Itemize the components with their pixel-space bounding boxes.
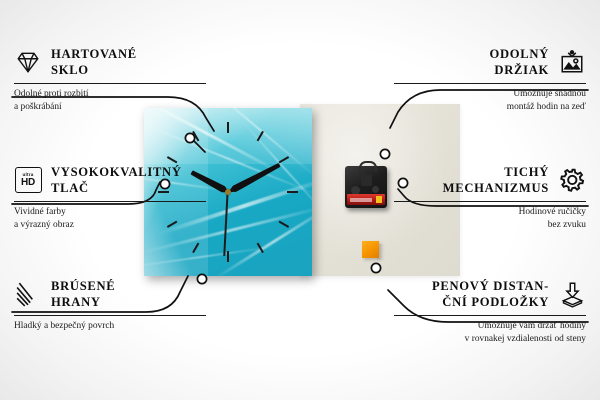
feature-description: Hodinové ručičky bez zvuku	[394, 206, 586, 232]
feature-divider	[14, 201, 206, 202]
polished-edges-icon	[14, 280, 42, 308]
picture-frame-icon	[558, 48, 586, 76]
hd-badge: ultra HD	[15, 167, 42, 193]
feature-divider	[394, 83, 586, 84]
feature-heading: HARTOVANÉ SKLO	[14, 46, 206, 78]
feather-streak	[201, 108, 312, 178]
movement-dial	[372, 186, 379, 193]
hour-tick	[192, 243, 199, 254]
gear-icon	[558, 166, 586, 194]
diamond-icon	[14, 48, 42, 76]
feature-divider	[14, 83, 206, 84]
feather-streak	[144, 246, 275, 269]
feature-silent-mechanism: TICHÝ MECHANIZMUS Hodinové ručičky bez z…	[394, 164, 586, 232]
feature-heading: BRÚSENÉ HRANY	[14, 278, 206, 310]
minute-hand	[226, 162, 280, 195]
feature-title: BRÚSENÉ HRANY	[51, 278, 115, 310]
feature-heading: ultra HD VYSOKOKVALITNÝ TLAČ	[14, 164, 206, 196]
feature-title: ODOLNÝ DRŽIAK	[490, 46, 549, 78]
feather-streak	[214, 203, 312, 276]
feature-title: PENOVÝ DISTAN- ČNÍ PODLOŽKY	[432, 278, 549, 310]
feature-title: VYSOKOKVALITNÝ TLAČ	[51, 164, 182, 196]
feature-hardened-glass: HARTOVANÉ SKLO Odolné proti rozbití a po…	[14, 46, 206, 114]
hour-tick	[287, 191, 298, 193]
feature-description: Vividné farby a výrazný obraz	[14, 206, 206, 232]
second-hand	[224, 192, 229, 256]
clock-movement-mechanism[interactable]	[345, 166, 387, 208]
battery-label	[350, 198, 372, 202]
movement-shaft	[361, 175, 372, 186]
hd-main-label: HD	[21, 178, 35, 188]
feature-divider	[14, 315, 206, 316]
feature-heading: ODOLNÝ DRŽIAK	[394, 46, 586, 78]
hour-tick	[279, 221, 290, 228]
battery-plus-terminal	[376, 196, 382, 203]
aa-battery	[347, 194, 385, 205]
feature-description: Umožňuje snadnou montáž hodin na zeď	[394, 88, 586, 114]
feature-durable-holder: ODOLNÝ DRŽIAK Umožňuje snadnou montáž ho…	[394, 46, 586, 114]
feature-divider	[394, 201, 586, 202]
feature-polished-edges: BRÚSENÉ HRANY Hladký a bezpečný povrch	[14, 278, 206, 333]
feature-description: Odolné proti rozbití a poškrábání	[14, 88, 206, 114]
infographic-canvas: HARTOVANÉ SKLO Odolné proti rozbití a po…	[0, 0, 600, 400]
feature-foam-spacers: PENOVÝ DISTAN- ČNÍ PODLOŽKY Umožňuje vám…	[394, 278, 586, 346]
hanging-hook-icon	[359, 161, 377, 172]
feature-description: Hladký a bezpečný povrch	[14, 320, 206, 333]
hour-tick	[192, 131, 199, 142]
hour-tick	[167, 156, 178, 163]
feature-high-quality-print: ultra HD VYSOKOKVALITNÝ TLAČ Vividné far…	[14, 164, 206, 232]
hour-tick	[227, 251, 229, 262]
hand-center-cap	[225, 189, 231, 195]
hour-tick	[279, 156, 290, 163]
feature-title: TICHÝ MECHANIZMUS	[443, 164, 549, 196]
ultra-hd-icon: ultra HD	[14, 166, 42, 194]
feature-description: Umožňuje vám držať hodiny v rovnakej vzd…	[394, 320, 586, 346]
hour-tick	[257, 131, 264, 142]
feature-heading: TICHÝ MECHANIZMUS	[394, 164, 586, 196]
feature-heading: PENOVÝ DISTAN- ČNÍ PODLOŽKY	[394, 278, 586, 310]
foam-spacer-pad[interactable]	[362, 241, 379, 258]
foam-pad-icon	[558, 280, 586, 308]
feature-title: HARTOVANÉ SKLO	[51, 46, 137, 78]
feature-divider	[394, 315, 586, 316]
hour-tick	[227, 122, 229, 133]
hour-tick	[257, 243, 264, 254]
